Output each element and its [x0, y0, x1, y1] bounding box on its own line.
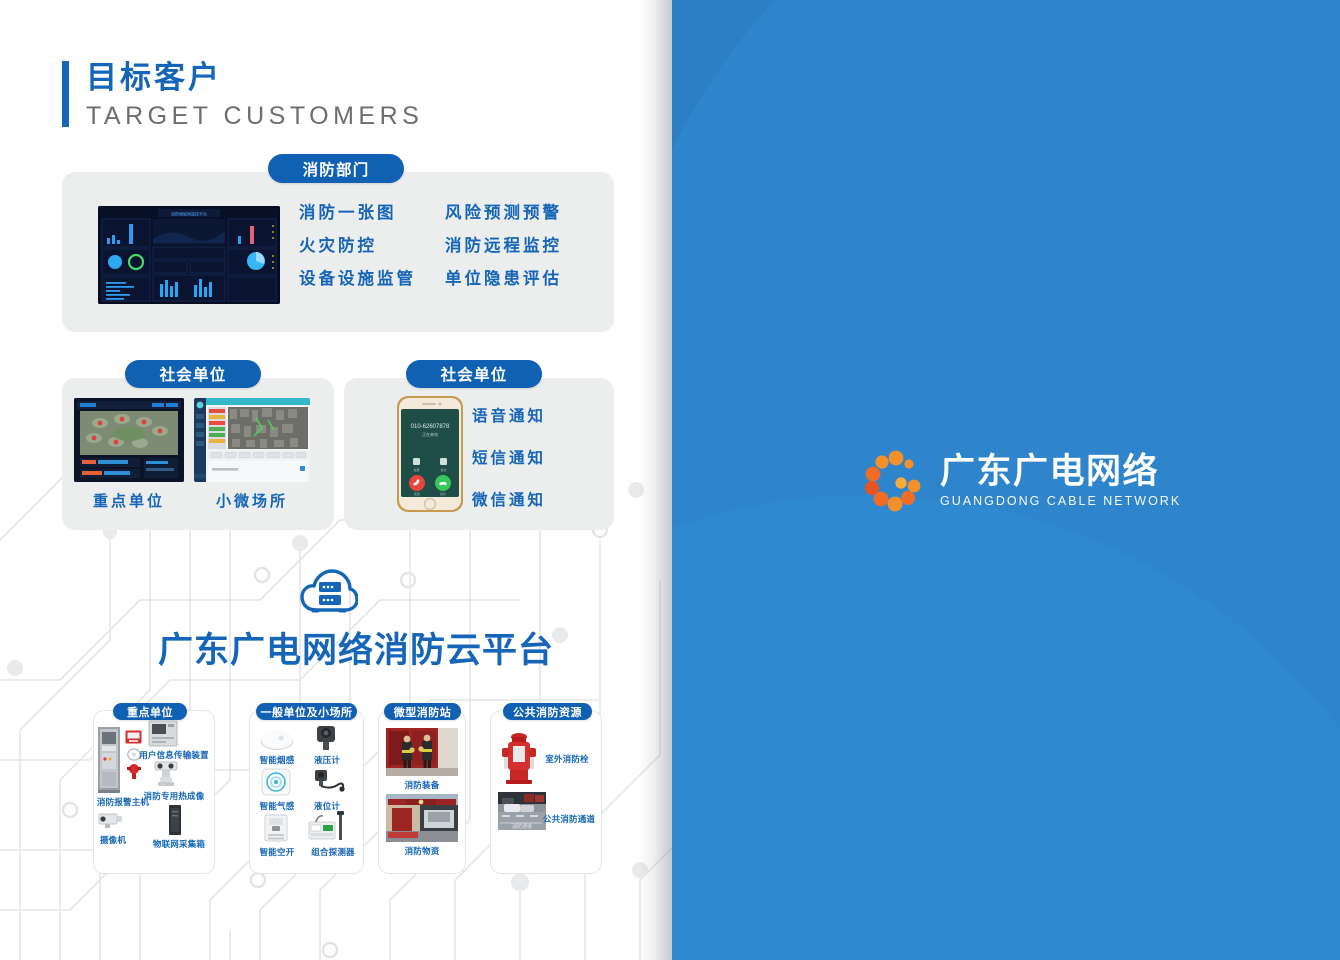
- feature-item: 设备设施监管: [299, 268, 445, 290]
- brand-logo: 广东广电网络 GUANGDONG CABLE NETWORK: [865, 443, 1155, 519]
- cloud-platform-title: 广东广电网络消防云平台: [158, 622, 554, 673]
- panel-public-resources-body: 室外消防栓 消防通道: [490, 710, 602, 874]
- panel-mini-fire-station-body: 消防装备 消防物资: [378, 710, 466, 874]
- small-venue-screenshot: [194, 398, 310, 482]
- dashboard-screenshot: 消防物联网监控平台: [98, 206, 280, 304]
- fire-department-feature-list: 消防一张图 风险预测预警 火灾防控 消防远程监控 设备设施监管 单位隐患评估: [299, 202, 599, 290]
- firefighting-equipment-photo: [386, 728, 458, 776]
- incoming-call-phone: 010-62607878 正在来电 提醒 信息 拒绝 接听: [396, 395, 464, 513]
- header-accent-bar: [62, 61, 69, 127]
- thermal-imaging-camera-icon: [151, 760, 181, 788]
- fire-sprinkler-valve-icon: [126, 763, 142, 780]
- smart-breaker-icon: [263, 814, 289, 842]
- card-social-units-left-body: 重点单位: [62, 378, 334, 530]
- right-brand-panel: 广东广电网络 GUANGDONG CABLE NETWORK: [672, 0, 1340, 960]
- panel-general-units-body: 智能烟感 液压计 智能气感: [249, 710, 364, 874]
- svg-text:消防物联网监控平台: 消防物联网监控平台: [171, 211, 207, 217]
- svg-text:接听: 接听: [440, 491, 446, 496]
- guangdong-cable-g-icon: [865, 450, 927, 512]
- svg-text:正在来电: 正在来电: [422, 431, 438, 437]
- camera-icon: [96, 810, 124, 830]
- feature-item: 消防一张图: [299, 202, 445, 224]
- device-label: 摄像机: [93, 834, 133, 846]
- page-title: 目标客户: [86, 58, 423, 98]
- feature-item: 消防远程监控: [445, 235, 599, 257]
- notification-item: 短信通知: [472, 446, 546, 468]
- cloud-server-icon: [300, 568, 358, 618]
- combined-detector-icon: [307, 810, 349, 842]
- svg-text:消防通道: 消防通道: [512, 823, 532, 830]
- notification-item: 微信通知: [472, 488, 546, 510]
- svg-text:拒绝: 拒绝: [414, 491, 420, 496]
- iot-collection-box-icon: [167, 804, 183, 836]
- shot-caption: 重点单位: [74, 490, 184, 511]
- page-header: 目标客户 TARGET CUSTOMERS: [62, 58, 423, 133]
- device-label: 室外消防栓: [538, 753, 596, 765]
- brand-name-en: GUANGDONG CABLE NETWORK: [940, 494, 1181, 508]
- feature-item: 风险预测预警: [445, 202, 599, 224]
- outdoor-hydrant-icon: [500, 730, 538, 784]
- hydraulic-gauge-icon: [313, 724, 339, 752]
- feature-item: 单位隐患评估: [445, 268, 599, 290]
- left-content-panel: 目标客户 TARGET CUSTOMERS 消防部门 消防物联网监控平台: [0, 0, 672, 960]
- device-label: 智能烟感: [251, 754, 303, 766]
- shot-caption: 小微场所: [194, 490, 310, 511]
- page-subtitle: TARGET CUSTOMERS: [86, 99, 423, 133]
- device-label: 消防装备: [386, 779, 458, 791]
- device-label: 液压计: [307, 754, 347, 766]
- card-fire-department-body: 消防物联网监控平台: [62, 172, 614, 332]
- device-label: 公共消防通道: [538, 813, 600, 825]
- firefighting-supplies-photo: [386, 794, 458, 842]
- device-label: 智能空开: [251, 846, 303, 858]
- fire-alarm-host-icon: [95, 726, 125, 794]
- device-label: 消防专用热成像: [135, 790, 213, 802]
- svg-text:提醒: 提醒: [413, 467, 419, 472]
- user-info-transmitter-icon: [148, 720, 178, 747]
- brand-name-cn: 广东广电网络: [940, 454, 1181, 491]
- smart-smoke-sensor-icon: [259, 728, 295, 750]
- device-label: 智能气感: [251, 800, 303, 812]
- notification-item: 语音通知: [472, 404, 546, 426]
- level-gauge-icon: [311, 768, 345, 796]
- smart-gas-sensor-icon: [261, 768, 291, 796]
- device-label: 消防物资: [386, 845, 458, 857]
- notification-list: 语音通知 短信通知 微信通知: [472, 404, 546, 510]
- svg-text:010-62607878: 010-62607878: [411, 424, 450, 430]
- card-social-units-right-body: 010-62607878 正在来电 提醒 信息 拒绝 接听 语音通知 短信通知: [344, 378, 614, 530]
- key-unit-screenshot: [74, 398, 184, 482]
- poster-page: 目标客户 TARGET CUSTOMERS 消防部门 消防物联网监控平台: [0, 0, 1340, 960]
- feature-item: 火灾防控: [299, 235, 445, 257]
- panel-key-units-body: 消防报警主机 用户信息传输装置 消防专用热成像: [93, 710, 215, 874]
- device-label: 物联网采集箱: [143, 838, 215, 850]
- manual-call-point-icon: [125, 730, 142, 744]
- svg-text:信息: 信息: [440, 467, 446, 472]
- device-label: 组合探测器: [303, 846, 363, 858]
